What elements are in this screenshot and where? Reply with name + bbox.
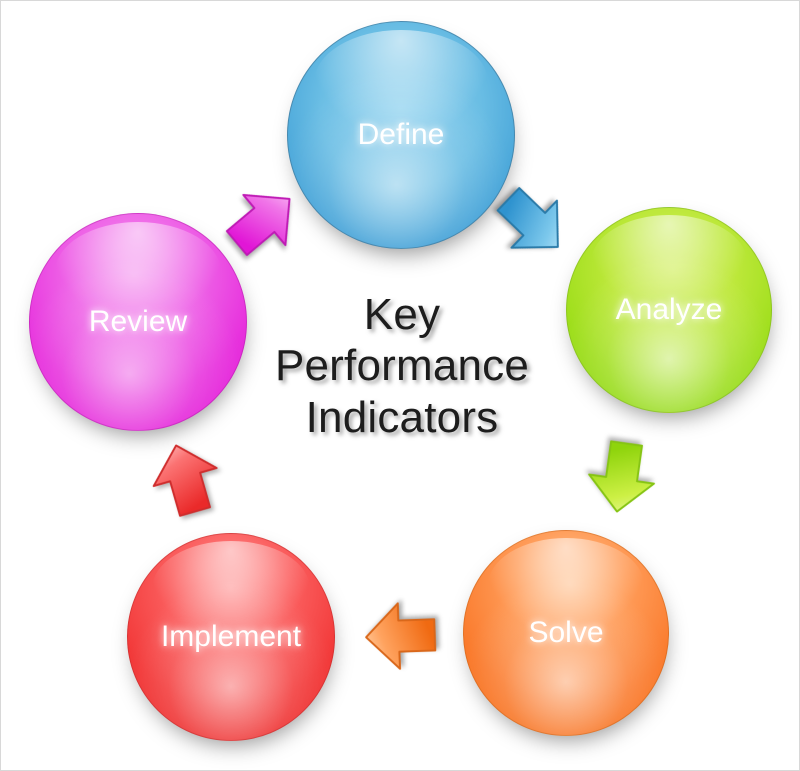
page-title: Key Performance Indicators (237, 289, 567, 443)
node-review[interactable]: Review (29, 213, 247, 431)
node-label-implement: Implement (161, 620, 301, 654)
node-implement[interactable]: Implement (127, 533, 335, 741)
node-label-define: Define (358, 118, 445, 152)
node-label-analyze: Analyze (616, 293, 723, 327)
title-line-1: Key (237, 289, 567, 340)
arrow-icon-implement-to-review (138, 432, 234, 528)
node-label-review: Review (89, 305, 187, 339)
arrow-icon-solve-to-implement (362, 596, 443, 677)
node-analyze[interactable]: Analyze (566, 207, 772, 413)
title-line-3: Indicators (237, 392, 567, 443)
node-label-solve: Solve (528, 616, 603, 650)
kpi-cycle-diagram: Key Performance Indicators Define Analyz… (0, 0, 800, 771)
node-define[interactable]: Define (287, 21, 515, 249)
title-line-2: Performance (237, 340, 567, 391)
arrow-icon-analyze-to-solve (578, 432, 666, 520)
node-solve[interactable]: Solve (463, 530, 669, 736)
